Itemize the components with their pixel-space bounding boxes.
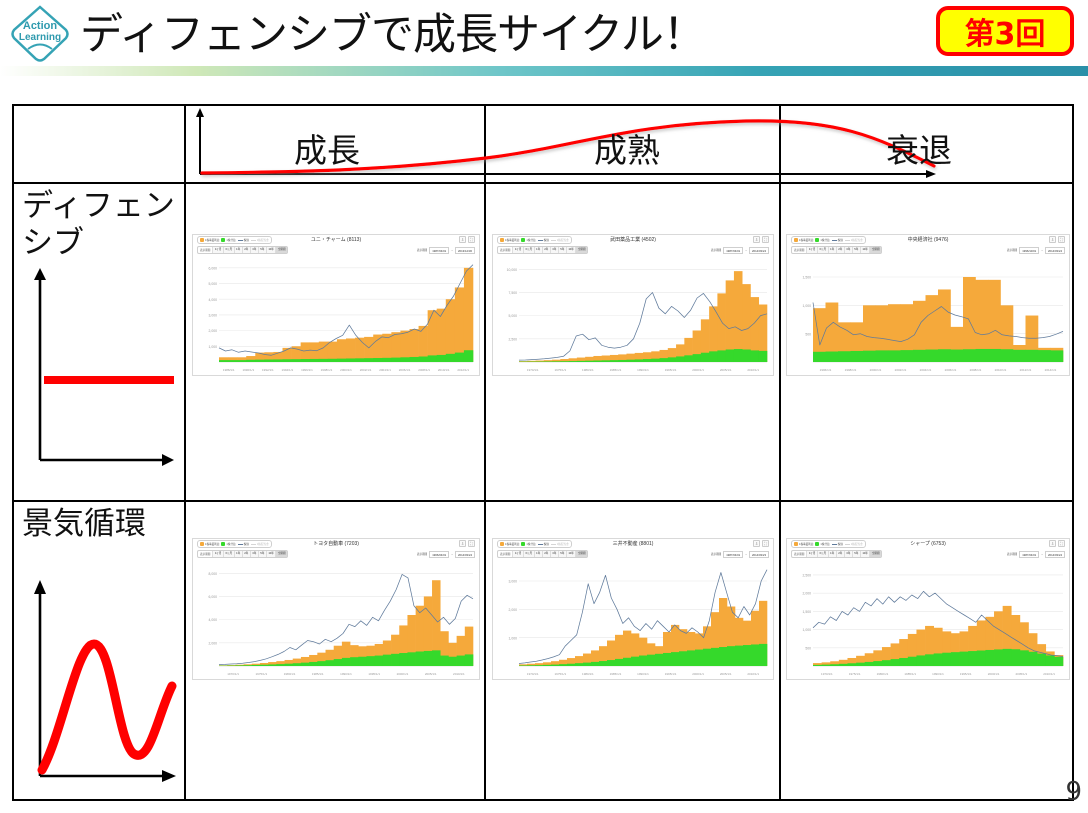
- svg-text:1995/1/1: 1995/1/1: [960, 672, 972, 676]
- chart-header: 1株事業利益1株什益株価1株配当金トヨタ自動車 (7203)⇩⛶: [193, 539, 479, 550]
- period-button[interactable]: 3ヶ月: [212, 551, 223, 557]
- period-button[interactable]: 全期間: [869, 247, 881, 253]
- svg-text:1996/1/1: 1996/1/1: [301, 368, 313, 372]
- svg-text:1985/1/1: 1985/1/1: [610, 368, 622, 372]
- svg-text:2000/1/1: 2000/1/1: [988, 672, 1000, 676]
- header-divider: [0, 66, 1088, 76]
- svg-text:2005/1/1: 2005/1/1: [425, 672, 437, 676]
- chart-plot-area: 1,0002,0003,0004,0005,0006,0001988/1/119…: [193, 256, 479, 375]
- svg-text:1990/1/1: 1990/1/1: [637, 672, 649, 676]
- svg-text:Action: Action: [23, 20, 58, 32]
- fullscreen-icon[interactable]: ⛶: [762, 236, 769, 243]
- period-selector[interactable]: 表示期間3ヶ月6ヶ月1年2年3年5年10年全期間: [791, 246, 882, 254]
- range-start-input[interactable]: 1987/04/01: [429, 247, 449, 254]
- fullscreen-icon[interactable]: ⛶: [762, 540, 769, 547]
- stock-chart-chuo-keizai[interactable]: 1株事業利益1株什益株価1株配当金中央経済社 (9476)⇩⛶表示期間3ヶ月6ヶ…: [786, 234, 1070, 376]
- svg-text:1990/1/1: 1990/1/1: [932, 672, 944, 676]
- svg-text:3,000: 3,000: [509, 580, 518, 584]
- svg-text:7,500: 7,500: [509, 291, 518, 295]
- svg-text:1990/1/1: 1990/1/1: [340, 672, 352, 676]
- svg-text:2004/1/1: 2004/1/1: [379, 368, 391, 372]
- period-button[interactable]: 10年: [566, 551, 575, 557]
- stock-chart-mitsui-fudosan[interactable]: 1株事業利益1株什益株価1株配当金三井不動産 (8801)⇩⛶表示期間3ヶ月6ヶ…: [492, 538, 774, 680]
- svg-text:4,000: 4,000: [209, 618, 218, 622]
- period-button[interactable]: 1年: [234, 247, 242, 253]
- period-label: 表示期間: [498, 552, 512, 556]
- date-range-selector[interactable]: 表示期間1987/04/01~2014/03/24: [711, 246, 769, 254]
- period-button[interactable]: 2年: [242, 551, 250, 557]
- svg-text:1985/1/1: 1985/1/1: [312, 672, 324, 676]
- svg-text:2002/1/1: 2002/1/1: [895, 368, 907, 372]
- svg-text:1990/1/1: 1990/1/1: [242, 368, 254, 372]
- svg-text:2000/1/1: 2000/1/1: [692, 672, 704, 676]
- defensive-mini-chart: [22, 264, 182, 484]
- svg-text:2006/1/1: 2006/1/1: [399, 368, 411, 372]
- period-button[interactable]: 3ヶ月: [806, 247, 817, 253]
- stock-chart-toyota[interactable]: 1株事業利益1株什益株価1株配当金トヨタ自動車 (7203)⇩⛶表示期間3ヶ月6…: [192, 538, 480, 680]
- svg-text:1995/1/1: 1995/1/1: [368, 672, 380, 676]
- svg-text:2000/1/1: 2000/1/1: [870, 368, 882, 372]
- period-button[interactable]: 5年: [258, 247, 266, 253]
- period-button[interactable]: 2年: [542, 551, 550, 557]
- period-button[interactable]: 1年: [534, 551, 542, 557]
- row-header-defensive: ディフェンシブ: [22, 188, 182, 262]
- svg-text:3,000: 3,000: [209, 314, 218, 318]
- svg-text:2010/1/1: 2010/1/1: [453, 672, 465, 676]
- period-button[interactable]: 3ヶ月: [806, 551, 817, 557]
- svg-text:2,000: 2,000: [509, 608, 518, 612]
- period-label: 表示期間: [792, 248, 806, 252]
- date-range-selector[interactable]: 表示期間1966/04/01~2014/03/24: [417, 550, 475, 558]
- chart-title: シャープ (6753): [787, 540, 1069, 547]
- svg-text:2000/1/1: 2000/1/1: [340, 368, 352, 372]
- svg-text:1995/1/1: 1995/1/1: [665, 672, 677, 676]
- period-button[interactable]: 3年: [844, 247, 852, 253]
- chart-actions[interactable]: ⇩⛶: [459, 540, 475, 547]
- episode-badge: 第3回: [936, 6, 1074, 56]
- period-button[interactable]: 2年: [836, 247, 844, 253]
- range-end-input[interactable]: 2014/03/24: [1045, 247, 1065, 254]
- svg-text:1975/1/1: 1975/1/1: [554, 672, 566, 676]
- chart-controls[interactable]: 表示期間3ヶ月6ヶ月1年2年3年5年10年全期間表示期間1996/10/01~2…: [787, 246, 1069, 256]
- period-selector[interactable]: 表示期間3ヶ月6ヶ月1年2年3年5年10年全期間: [791, 550, 882, 558]
- episode-badge-label: 第3回: [965, 9, 1046, 53]
- chart-title: ユニ・チャーム (8113): [193, 236, 479, 243]
- chart-actions[interactable]: ⇩⛶: [753, 236, 769, 243]
- svg-text:1996/1/1: 1996/1/1: [820, 368, 832, 372]
- chart-controls[interactable]: 表示期間3ヶ月6ヶ月1年2年3年5年10年全期間表示期間1987/04/01~2…: [493, 246, 773, 256]
- period-label: 表示期間: [498, 248, 512, 252]
- svg-text:2004/1/1: 2004/1/1: [920, 368, 932, 372]
- grid-hline-2: [14, 500, 1072, 502]
- range-label: 表示期間: [1007, 552, 1017, 556]
- svg-text:1980/1/1: 1980/1/1: [582, 368, 594, 372]
- period-button[interactable]: 10年: [266, 247, 275, 253]
- chart-actions[interactable]: ⇩⛶: [753, 540, 769, 547]
- range-label: 表示期間: [417, 248, 427, 252]
- chart-plot-area: 5001,0001,5002,0002,5001970/1/11975/1/11…: [787, 560, 1069, 679]
- date-range-selector[interactable]: 表示期間1996/10/01~2014/03/24: [1007, 246, 1065, 254]
- chart-controls[interactable]: 表示期間3ヶ月6ヶ月1年2年3年5年10年全期間表示期間1987/04/01~2…: [787, 550, 1069, 560]
- svg-text:2,000: 2,000: [803, 592, 812, 596]
- range-end-input[interactable]: 2014/03/24: [455, 551, 475, 558]
- period-button[interactable]: 3年: [844, 551, 852, 557]
- period-button[interactable]: 1年: [828, 247, 836, 253]
- chart-header: 1株事業利益1株什益株価1株配当金武田薬品工業 (4502)⇩⛶: [493, 235, 773, 246]
- svg-text:1970/1/1: 1970/1/1: [527, 672, 539, 676]
- svg-text:1970/1/1: 1970/1/1: [227, 672, 239, 676]
- date-range-selector[interactable]: 表示期間1987/04/01~2014/03/23: [711, 550, 769, 558]
- svg-text:2010/1/1: 2010/1/1: [1043, 672, 1055, 676]
- chart-controls[interactable]: 表示期間3ヶ月6ヶ月1年2年3年5年10年全期間表示期間1987/04/01~2…: [193, 246, 479, 256]
- range-dash: ~: [451, 552, 453, 556]
- range-label: 表示期間: [711, 552, 721, 556]
- svg-text:2,500: 2,500: [803, 574, 812, 578]
- period-selector[interactable]: 表示期間3ヶ月6ヶ月1年2年3年5年10年全期間: [197, 246, 288, 254]
- period-selector[interactable]: 表示期間3ヶ月6ヶ月1年2年3年5年10年全期間: [497, 246, 588, 254]
- cyclical-mini-chart: [22, 574, 187, 802]
- svg-text:2010/1/1: 2010/1/1: [995, 368, 1007, 372]
- chart-title: 中央経済社 (9476): [787, 236, 1069, 243]
- svg-text:2000/1/1: 2000/1/1: [692, 368, 704, 372]
- svg-text:5,000: 5,000: [509, 314, 518, 318]
- download-icon[interactable]: ⇩: [459, 236, 466, 243]
- range-dash: ~: [745, 552, 747, 556]
- stock-chart-takeda[interactable]: 1株事業利益1株什益株価1株配当金武田薬品工業 (4502)⇩⛶表示期間3ヶ月6…: [492, 234, 774, 376]
- fullscreen-icon[interactable]: ⛶: [1058, 540, 1065, 547]
- period-button[interactable]: 全期間: [869, 551, 881, 557]
- stock-chart-sharp[interactable]: 1株事業利益1株什益株価1株配当金シャープ (6753)⇩⛶表示期間3ヶ月6ヶ月…: [786, 538, 1070, 680]
- period-button[interactable]: 5年: [558, 247, 566, 253]
- column-header-growth: 成長: [294, 124, 360, 172]
- range-dash: ~: [451, 248, 453, 252]
- range-label: 表示期間: [1007, 248, 1017, 252]
- svg-text:1998/1/1: 1998/1/1: [321, 368, 333, 372]
- svg-text:1985/1/1: 1985/1/1: [904, 672, 916, 676]
- svg-text:2010/1/1: 2010/1/1: [747, 368, 759, 372]
- fullscreen-icon[interactable]: ⛶: [468, 540, 475, 547]
- range-start-input[interactable]: 1966/04/01: [429, 551, 449, 558]
- period-button[interactable]: 全期間: [575, 247, 587, 253]
- range-dash: ~: [745, 248, 747, 252]
- chart-controls[interactable]: 表示期間3ヶ月6ヶ月1年2年3年5年10年全期間表示期間1966/04/01~2…: [193, 550, 479, 560]
- svg-text:1988/1/1: 1988/1/1: [223, 368, 235, 372]
- period-button[interactable]: 3年: [550, 551, 558, 557]
- period-button[interactable]: 6ヶ月: [223, 551, 234, 557]
- period-button[interactable]: 全期間: [275, 247, 287, 253]
- date-range-selector[interactable]: 表示期間1987/04/01~2013/12/30: [417, 246, 475, 254]
- action-learning-logo: Action Learning: [8, 4, 72, 64]
- download-icon[interactable]: ⇩: [753, 236, 760, 243]
- svg-text:2005/1/1: 2005/1/1: [720, 672, 732, 676]
- svg-text:4,000: 4,000: [209, 298, 218, 302]
- period-button[interactable]: 10年: [266, 551, 275, 557]
- period-button[interactable]: 2年: [242, 247, 250, 253]
- chart-plot-area: 2,5005,0007,50010,0001970/1/11975/1/1198…: [493, 256, 773, 375]
- svg-text:1970/1/1: 1970/1/1: [821, 672, 833, 676]
- chart-header: 1株事業利益1株什益株価1株配当金中央経済社 (9476)⇩⛶: [787, 235, 1069, 246]
- range-start-input[interactable]: 1987/04/01: [723, 247, 743, 254]
- svg-text:1998/1/1: 1998/1/1: [845, 368, 857, 372]
- period-button[interactable]: 2年: [836, 551, 844, 557]
- range-label: 表示期間: [417, 552, 427, 556]
- range-end-input[interactable]: 2014/03/24: [749, 247, 769, 254]
- period-button[interactable]: 3年: [550, 247, 558, 253]
- svg-text:2002/1/1: 2002/1/1: [360, 368, 372, 372]
- range-end-input[interactable]: 2014/03/23: [749, 551, 769, 558]
- svg-text:6,000: 6,000: [209, 266, 218, 270]
- svg-text:1975/1/1: 1975/1/1: [255, 672, 267, 676]
- svg-text:8,000: 8,000: [209, 572, 218, 576]
- chart-actions[interactable]: ⇩⛶: [459, 236, 475, 243]
- svg-text:2014/1/1: 2014/1/1: [1045, 368, 1057, 372]
- period-button[interactable]: 1年: [534, 247, 542, 253]
- svg-text:1980/1/1: 1980/1/1: [284, 672, 296, 676]
- column-header-maturity: 成熟: [594, 124, 660, 172]
- chart-controls[interactable]: 表示期間3ヶ月6ヶ月1年2年3年5年10年全期間表示期間1987/04/01~2…: [493, 550, 773, 560]
- period-button[interactable]: 10年: [860, 247, 869, 253]
- chart-title: 武田薬品工業 (4502): [493, 236, 773, 243]
- svg-text:2006/1/1: 2006/1/1: [945, 368, 957, 372]
- svg-text:2,500: 2,500: [509, 337, 518, 341]
- period-selector[interactable]: 表示期間3ヶ月6ヶ月1年2年3年5年10年全期間: [497, 550, 588, 558]
- period-button[interactable]: 10年: [566, 247, 575, 253]
- period-button[interactable]: 1年: [828, 551, 836, 557]
- period-button[interactable]: 全期間: [275, 551, 287, 557]
- chart-header: 1株事業利益1株什益株価1株配当金シャープ (6753)⇩⛶: [787, 539, 1069, 550]
- fullscreen-icon[interactable]: ⛶: [1058, 236, 1065, 243]
- svg-text:1970/1/1: 1970/1/1: [527, 368, 539, 372]
- download-icon[interactable]: ⇩: [1049, 236, 1056, 243]
- fullscreen-icon[interactable]: ⛶: [468, 236, 475, 243]
- svg-text:2,000: 2,000: [209, 641, 218, 645]
- range-start-input[interactable]: 1996/10/01: [1019, 247, 1039, 254]
- download-icon[interactable]: ⇩: [459, 540, 466, 547]
- svg-text:1,000: 1,000: [803, 628, 812, 632]
- chart-title: 三井不動産 (8801): [493, 540, 773, 547]
- period-button[interactable]: 10年: [860, 551, 869, 557]
- svg-text:1,500: 1,500: [803, 610, 812, 614]
- period-button[interactable]: 全期間: [575, 551, 587, 557]
- period-button[interactable]: 3年: [250, 551, 258, 557]
- svg-text:6,000: 6,000: [209, 595, 218, 599]
- stock-chart-uni-charm[interactable]: 1株事業利益1株什益株価1株配当金ユニ・チャーム (8113)⇩⛶表示期間3ヶ月…: [192, 234, 480, 376]
- svg-text:1985/1/1: 1985/1/1: [610, 672, 622, 676]
- chart-header: 1株事業利益1株什益株価1株配当金三井不動産 (8801)⇩⛶: [493, 539, 773, 550]
- grid-vline-3: [779, 106, 781, 799]
- page-header: Action Learning ディフェンシブで成長サイクル！ 第3回: [0, 0, 1088, 72]
- period-selector[interactable]: 表示期間3ヶ月6ヶ月1年2年3年5年10年全期間: [197, 550, 288, 558]
- column-header-decline: 衰退: [886, 124, 952, 172]
- period-label: 表示期間: [792, 552, 806, 556]
- period-button[interactable]: 5年: [558, 551, 566, 557]
- grid-hline-1: [14, 182, 1072, 184]
- period-button[interactable]: 3ヶ月: [212, 247, 223, 253]
- period-button[interactable]: 5年: [852, 551, 860, 557]
- range-label: 表示期間: [711, 248, 721, 252]
- svg-text:500: 500: [805, 332, 811, 336]
- period-button[interactable]: 3年: [250, 247, 258, 253]
- svg-text:1995/1/1: 1995/1/1: [665, 368, 677, 372]
- svg-text:2,000: 2,000: [209, 329, 218, 333]
- svg-text:1,000: 1,000: [509, 636, 518, 640]
- range-dash: ~: [1041, 248, 1043, 252]
- page-number: 9: [1065, 777, 1082, 807]
- chart-header: 1株事業利益1株什益株価1株配当金ユニ・チャーム (8113)⇩⛶: [193, 235, 479, 246]
- row-header-cyclical: 景気循環: [22, 506, 182, 543]
- range-start-input[interactable]: 1987/04/01: [1019, 551, 1039, 558]
- svg-text:1,000: 1,000: [803, 304, 812, 308]
- svg-text:2008/1/1: 2008/1/1: [970, 368, 982, 372]
- svg-text:1,500: 1,500: [803, 276, 812, 280]
- period-button[interactable]: 2年: [542, 247, 550, 253]
- chart-plot-area: 1,0002,0003,0001970/1/11975/1/11980/1/11…: [493, 560, 773, 679]
- svg-text:1975/1/1: 1975/1/1: [554, 368, 566, 372]
- svg-text:2010/1/1: 2010/1/1: [747, 672, 759, 676]
- svg-text:1,000: 1,000: [209, 345, 218, 349]
- date-range-selector[interactable]: 表示期間1987/04/01~2014/03/24: [1007, 550, 1065, 558]
- period-button[interactable]: 6ヶ月: [223, 247, 234, 253]
- period-button[interactable]: 3ヶ月: [512, 551, 523, 557]
- svg-text:1990/1/1: 1990/1/1: [637, 368, 649, 372]
- period-button[interactable]: 6ヶ月: [523, 551, 534, 557]
- period-label: 表示期間: [198, 552, 212, 556]
- lifecycle-matrix: 成長 成熟 衰退 ディフェンシブ 景気循環 1株事業利益1株什益株価1株配当金ユ…: [12, 104, 1074, 801]
- period-button[interactable]: 6ヶ月: [817, 247, 828, 253]
- chart-title: トヨタ自動車 (7203): [193, 540, 479, 547]
- page-title: ディフェンシブで成長サイクル！: [80, 6, 705, 64]
- svg-text:2000/1/1: 2000/1/1: [397, 672, 409, 676]
- range-end-input[interactable]: 2013/12/30: [455, 247, 475, 254]
- period-button[interactable]: 5年: [852, 247, 860, 253]
- svg-text:1975/1/1: 1975/1/1: [849, 672, 861, 676]
- range-start-input[interactable]: 1987/04/01: [723, 551, 743, 558]
- svg-text:2010/1/1: 2010/1/1: [438, 368, 450, 372]
- chart-actions[interactable]: ⇩⛶: [1049, 236, 1065, 243]
- svg-text:1994/1/1: 1994/1/1: [282, 368, 294, 372]
- download-icon[interactable]: ⇩: [1049, 540, 1056, 547]
- svg-text:2012/1/1: 2012/1/1: [1020, 368, 1032, 372]
- range-dash: ~: [1041, 552, 1043, 556]
- chart-plot-area: 2,0004,0006,0008,0001970/1/11975/1/11980…: [193, 560, 479, 679]
- download-icon[interactable]: ⇩: [753, 540, 760, 547]
- period-button[interactable]: 6ヶ月: [523, 247, 534, 253]
- svg-text:10,000: 10,000: [507, 268, 517, 272]
- period-button[interactable]: 5年: [258, 551, 266, 557]
- svg-text:Learning: Learning: [19, 32, 61, 43]
- period-button[interactable]: 6ヶ月: [817, 551, 828, 557]
- svg-text:5,000: 5,000: [209, 282, 218, 286]
- svg-text:2005/1/1: 2005/1/1: [1015, 672, 1027, 676]
- svg-text:2012/1/1: 2012/1/1: [457, 368, 469, 372]
- svg-text:2005/1/1: 2005/1/1: [720, 368, 732, 372]
- range-end-input[interactable]: 2014/03/24: [1045, 551, 1065, 558]
- svg-text:500: 500: [805, 646, 811, 650]
- period-button[interactable]: 3ヶ月: [512, 247, 523, 253]
- svg-text:1992/1/1: 1992/1/1: [262, 368, 274, 372]
- period-button[interactable]: 1年: [234, 551, 242, 557]
- chart-actions[interactable]: ⇩⛶: [1049, 540, 1065, 547]
- svg-text:1980/1/1: 1980/1/1: [582, 672, 594, 676]
- chart-plot-area: 5001,0001,5001996/1/11998/1/12000/1/1200…: [787, 256, 1069, 375]
- period-label: 表示期間: [198, 248, 212, 252]
- svg-text:2008/1/1: 2008/1/1: [418, 368, 430, 372]
- svg-text:1980/1/1: 1980/1/1: [877, 672, 889, 676]
- grid-vline-2: [484, 106, 486, 799]
